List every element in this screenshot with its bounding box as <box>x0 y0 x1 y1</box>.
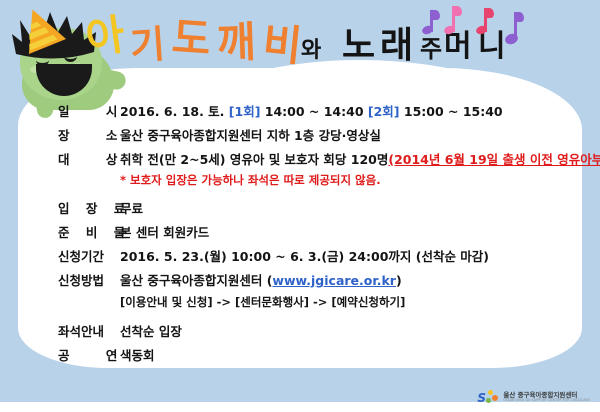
application-org-name: 울산 중구육아종합지원센터 ( <box>120 273 272 288</box>
detail-label-audience: 대 상 <box>58 149 120 168</box>
detail-row-application-period: 신청기간 2016. 5. 23.(월) 10:00 ~ 6. 3.(금) 24… <box>58 246 568 265</box>
detail-label-bring: 준 비 물 <box>58 222 120 241</box>
datetime-session1-badge: [1회] <box>229 104 261 119</box>
application-website-link[interactable]: www.jgicare.or.kr <box>272 273 396 288</box>
organization-logo: S 울산 중구육아종합지원센터 ULSAN JUNG-GU SUPPORT CE… <box>477 390 590 404</box>
detail-row-performer: 공 연 색동회 <box>58 345 568 364</box>
detail-row-seating: 좌석안내 선착순 입장 <box>58 321 568 340</box>
logo-dot-orange <box>492 395 498 401</box>
detail-value-application-method: 울산 중구육아종합지원센터 (www.jgicare.or.kr) <box>120 270 402 289</box>
detail-row-application-method: 신청방법 울산 중구육아종합지원센터 (www.jgicare.or.kr) <box>58 270 568 289</box>
title-char-3: 깨 <box>216 21 256 64</box>
title-char-8: 주 <box>420 37 442 61</box>
detail-row-datetime: 일 시 2016. 6. 18. 토. [1회] 14:00 ~ 14:40 [… <box>58 101 568 120</box>
detail-row-fee: 입 장 료 무료 <box>58 198 568 217</box>
datetime-date: 2016. 6. 18. 토. <box>120 104 229 119</box>
detail-value-audience: 취학 전(만 2~5세) 영유아 및 보호자 회당 120명(2014년 6월 … <box>120 149 600 168</box>
datetime-session1-time: 14:00 ~ 14:40 <box>260 104 367 119</box>
detail-value-application-period: 2016. 5. 23.(월) 10:00 ~ 6. 3.(금) 24:00까지… <box>120 246 489 265</box>
detail-row-venue: 장 소 울산 중구육아종합지원센터 지하 1층 강당·영상실 <box>58 125 568 144</box>
poster-title: 아 기 도 깨 비 와 노 래 주 머 니 <box>86 6 556 78</box>
detail-value-seating: 선착순 입장 <box>120 321 182 340</box>
event-poster: 아 기 도 깨 비 와 노 래 주 머 니 <box>0 0 600 412</box>
mascot-eye-left <box>36 54 49 66</box>
title-char-2: 도 <box>171 17 212 62</box>
datetime-session2-time: 15:00 ~ 15:40 <box>400 104 503 119</box>
detail-label-application-method: 신청방법 <box>58 270 120 289</box>
detail-label-performer: 공 연 <box>58 345 120 364</box>
datetime-session2-badge: [2회] <box>368 104 400 119</box>
detail-label-venue: 장 소 <box>58 125 120 144</box>
detail-row-guardian-note: * 보호자 입장은 가능하나 좌석은 따로 제공되지 않음. <box>58 172 568 190</box>
logo-dot-yellow <box>488 390 493 395</box>
detail-label-fee: 입 장 료 <box>58 198 120 217</box>
application-suffix: ) <box>396 273 402 288</box>
detail-label-application-period: 신청기간 <box>58 246 120 265</box>
title-char-4: 비 <box>261 22 304 68</box>
audience-text: 취학 전(만 2~5세) 영유아 및 보호자 회당 120명 <box>120 152 388 167</box>
detail-label-datetime: 일 시 <box>58 101 120 120</box>
title-char-6: 노 <box>342 28 375 64</box>
detail-label-seating: 좌석안내 <box>58 321 120 340</box>
audience-birth-requirement: (2014년 6월 19일 출생 이전 영유아부터 신청 가능) <box>388 152 600 167</box>
detail-row-bring: 준 비 물 본 센터 회원카드 <box>58 222 568 241</box>
jgi-logo-icon: S <box>477 390 499 404</box>
guardian-seating-note: * 보호자 입장은 가능하나 좌석은 따로 제공되지 않음. <box>120 172 381 188</box>
title-char-5: 와 <box>301 40 321 62</box>
title-char-10: 니 <box>478 32 506 62</box>
detail-row-application-path: [이용안내 및 신청] -> [센터문화행사] -> [예약신청하기] <box>58 294 568 312</box>
logo-dot-green <box>486 398 491 403</box>
detail-value-datetime: 2016. 6. 18. 토. [1회] 14:00 ~ 14:40 [2회] … <box>120 101 503 120</box>
detail-row-audience: 대 상 취학 전(만 2~5세) 영유아 및 보호자 회당 120명(2014년… <box>58 149 568 168</box>
detail-value-bring: 본 센터 회원카드 <box>120 222 209 241</box>
title-char-1: 기 <box>129 25 167 65</box>
title-char-9: 머 <box>444 32 472 62</box>
mascot-eye-right <box>64 50 77 62</box>
logo-mark-letter: S <box>477 391 486 405</box>
detail-value-fee: 무료 <box>120 198 143 217</box>
title-char-7: 래 <box>380 28 413 64</box>
application-navigation-path: [이용안내 및 신청] -> [센터문화행사] -> [예약신청하기] <box>120 294 405 310</box>
organization-logo-text: 울산 중구육아종합지원센터 ULSAN JUNG-GU SUPPORT CENT… <box>503 392 590 402</box>
event-details: 일 시 2016. 6. 18. 토. [1회] 14:00 ~ 14:40 [… <box>58 101 568 369</box>
detail-value-performer: 색동회 <box>120 345 155 364</box>
title-char-0: 아 <box>83 14 127 61</box>
organization-name-en: ULSAN JUNG-GU SUPPORT CENTER FOR CHILDCA… <box>503 399 590 402</box>
detail-value-venue: 울산 중구육아종합지원센터 지하 1층 강당·영상실 <box>120 125 381 144</box>
